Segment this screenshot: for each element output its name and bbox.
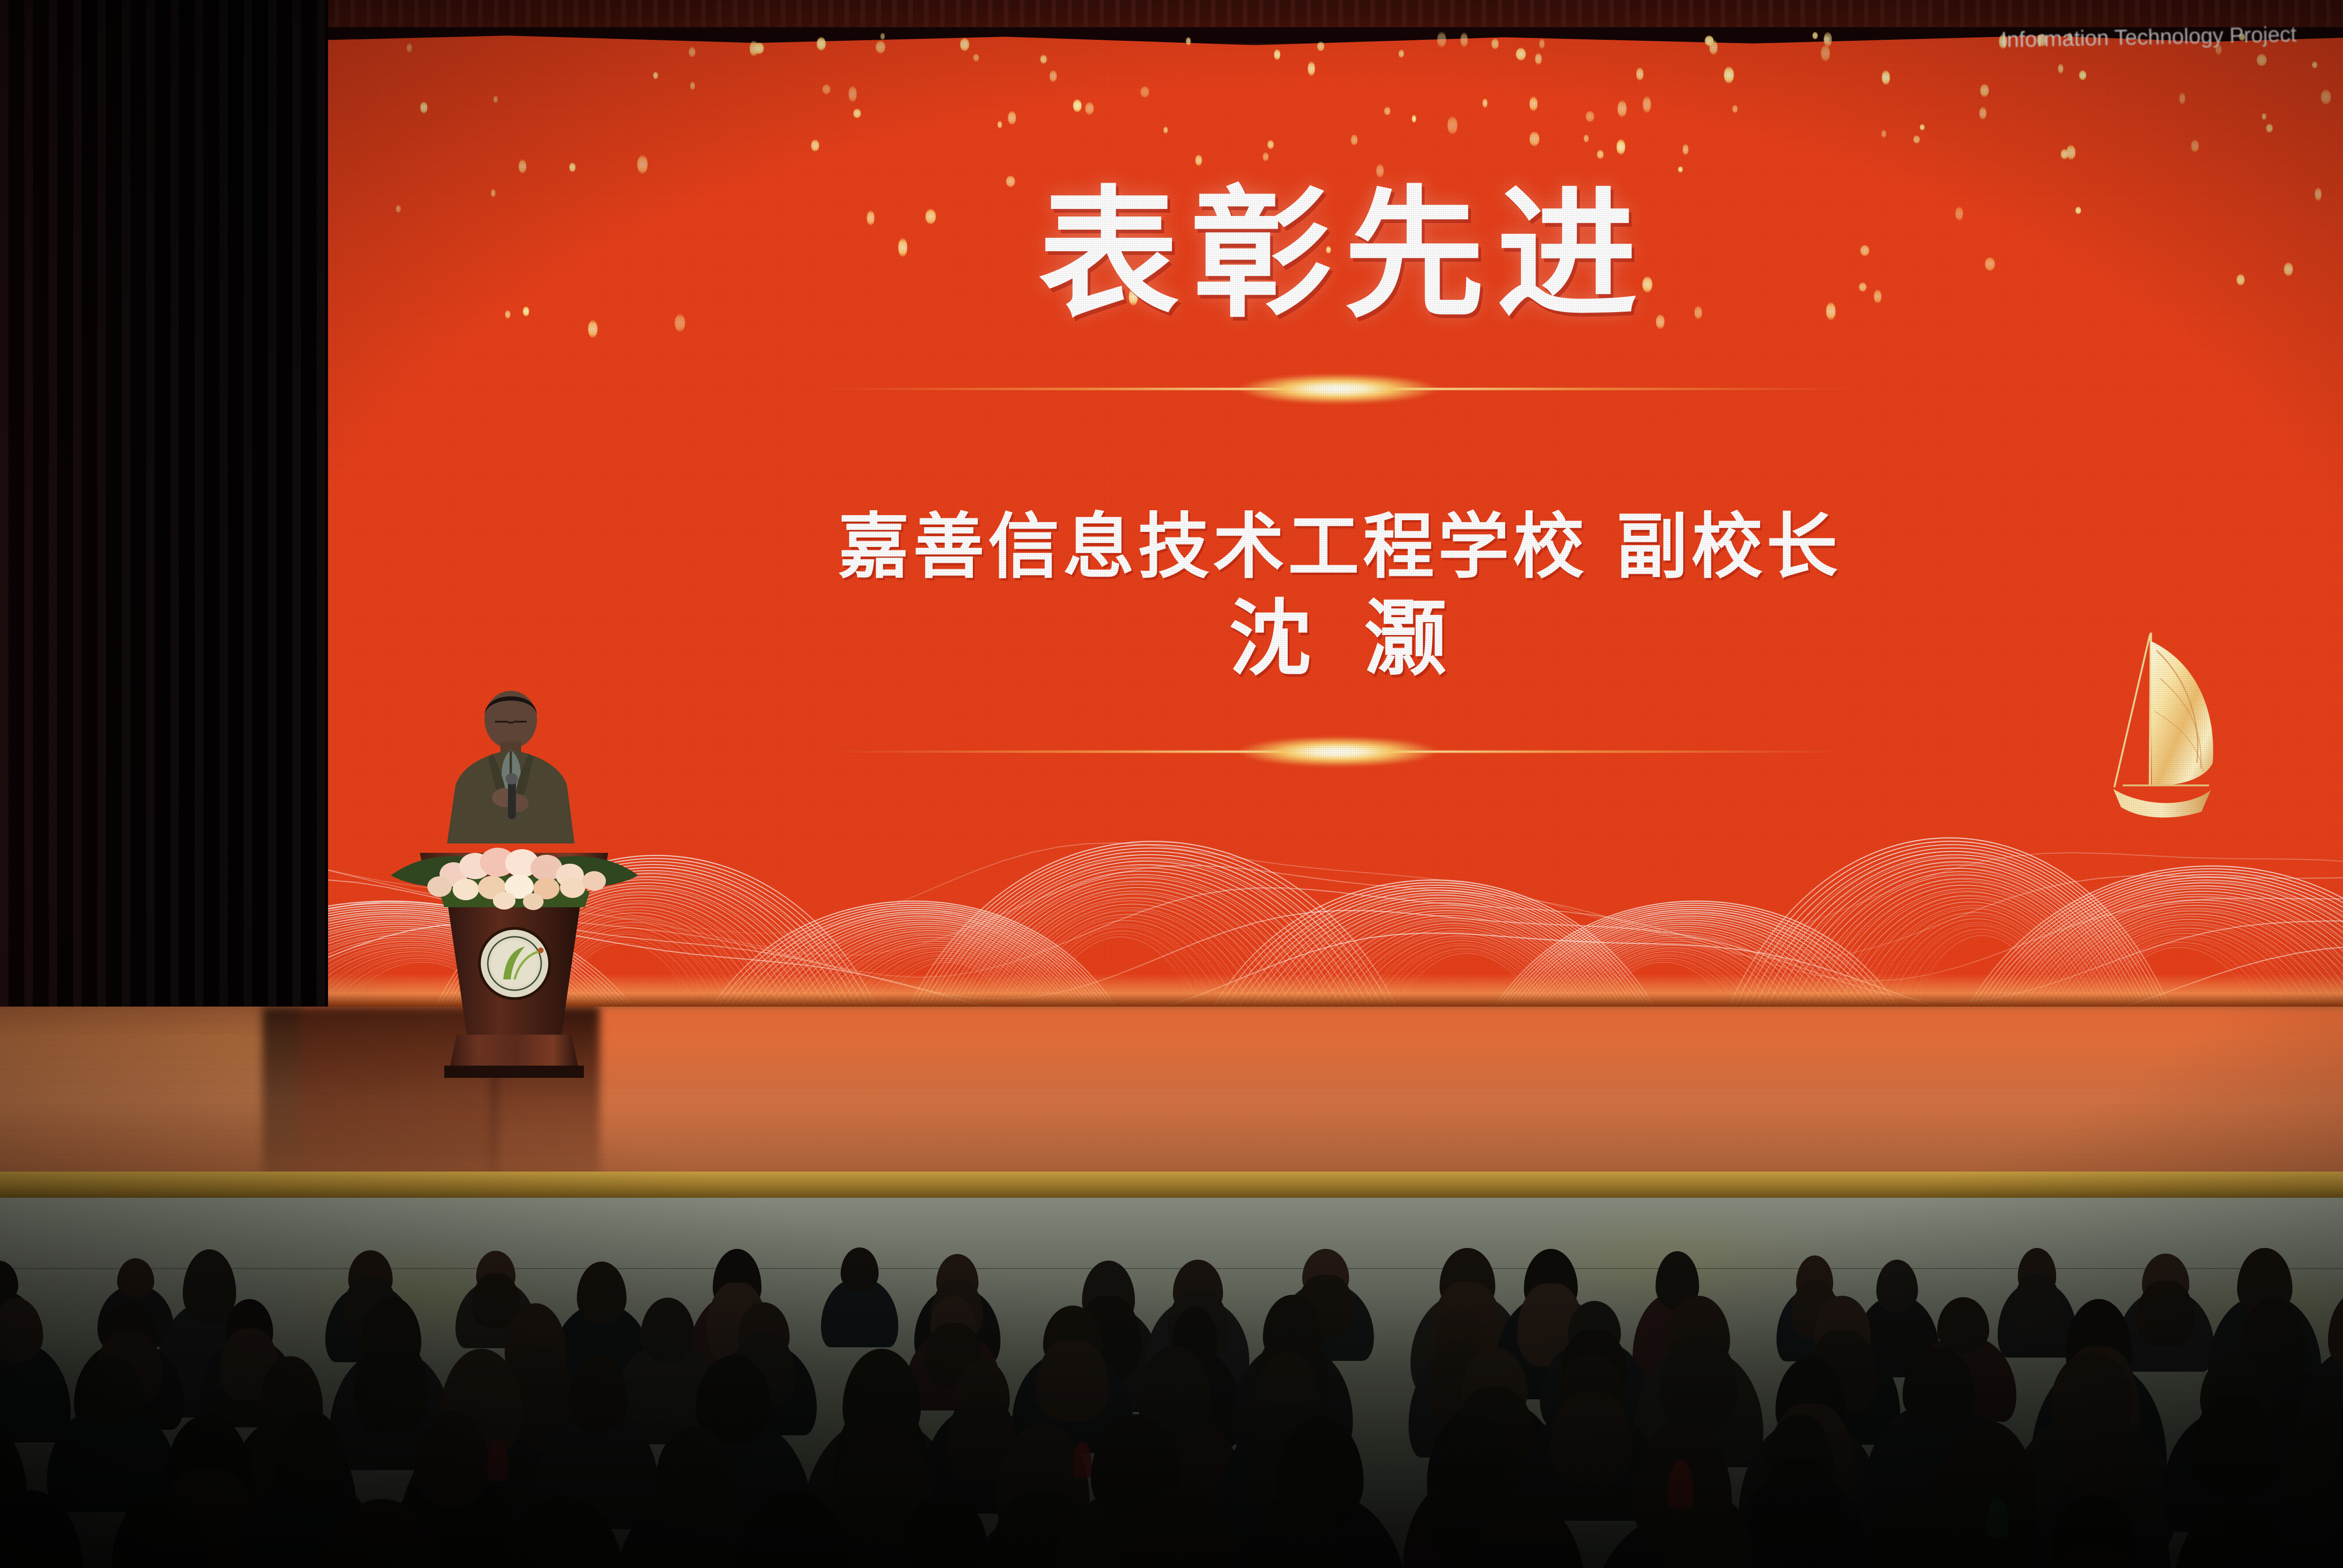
gold-particle [1437, 32, 1446, 47]
gold-particle [1448, 116, 1457, 134]
gold-particle [1643, 96, 1651, 113]
gold-particle [2321, 90, 2331, 105]
gold-particle [1195, 155, 1202, 166]
house-dimming [0, 1198, 2343, 1568]
gold-particle [1683, 144, 1688, 155]
gold-particle [876, 41, 885, 53]
gold-particle [1040, 55, 1047, 64]
wireframe-wave-graphic [300, 650, 2343, 1007]
gold-particle [2079, 70, 2086, 80]
gold-particle [1530, 132, 1539, 146]
gold-particle [1317, 42, 1324, 51]
gold-particle [1724, 67, 1734, 83]
gold-particle [1268, 140, 1274, 149]
gold-particle [2061, 149, 2068, 159]
gold-particle [2312, 61, 2317, 68]
gold-particle [1636, 67, 1643, 81]
gold-particle [493, 96, 498, 103]
gold-particle [1412, 115, 1416, 123]
gold-particle [1186, 37, 1191, 45]
gold-particle [689, 47, 695, 57]
gold-particle [1164, 127, 1168, 134]
gold-particle [1913, 135, 1919, 143]
gold-particle [822, 84, 830, 94]
gold-particle [2266, 124, 2273, 133]
gold-particle [811, 140, 819, 151]
gold-particle [2262, 113, 2266, 120]
gold-particle [2191, 140, 2199, 152]
gold-particle [1141, 86, 1149, 97]
gold-particle [1483, 98, 1487, 108]
gold-particle [1308, 61, 1315, 76]
gold-particle [569, 163, 575, 172]
gold-particle [960, 38, 969, 52]
gold-particle [1732, 105, 1738, 113]
gold-particle [1461, 32, 1468, 47]
gold-particle [2058, 64, 2063, 74]
gold-particle [2179, 92, 2186, 105]
gold-particle [1050, 70, 1057, 82]
divider-bottom-flare [612, 749, 2064, 754]
gold-particle [1516, 48, 1526, 60]
gold-particle [1085, 102, 1094, 115]
gold-particle [420, 102, 427, 114]
gold-particle [1008, 111, 1016, 125]
gold-particle [880, 33, 885, 40]
gold-particle [1813, 32, 1818, 39]
gold-particle [1882, 70, 1890, 85]
gold-particle [1881, 130, 1886, 138]
led-title: 表彰先进 [300, 185, 2343, 325]
gold-particle [1920, 124, 1925, 130]
gold-particle [1492, 38, 1499, 49]
gold-particle [1980, 84, 1989, 97]
gold-particle [519, 159, 526, 173]
gold-particle [1073, 99, 1082, 112]
led-bottom-glow [300, 974, 2343, 1007]
gold-particle [1586, 111, 1594, 122]
gold-particle [1618, 100, 1626, 117]
gold-particle [998, 121, 1002, 128]
gold-particle [853, 109, 861, 118]
gold-particle [849, 86, 857, 102]
gold-particle [1539, 39, 1545, 49]
gold-particle [1263, 152, 1269, 161]
gold-particle [753, 42, 761, 54]
auditorium-scene: 表彰先进 嘉善信息技术工程学校 副校长 沈 灏 Information Tech… [0, 0, 2343, 1568]
gold-particle [690, 82, 695, 90]
gold-particle [1979, 107, 1986, 120]
gold-particle [817, 37, 826, 51]
gold-particle [1351, 134, 1358, 145]
gold-particle [1274, 49, 1280, 60]
gold-particle [1399, 50, 1404, 57]
gold-particle [1597, 150, 1604, 159]
upper-banner-screen: Information Technology Project [2001, 7, 2343, 50]
gold-particle [2257, 54, 2267, 66]
led-screen: 表彰先进 嘉善信息技术工程学校 副校长 沈 灏 [300, 27, 2343, 1007]
gold-particle [1821, 45, 1830, 61]
gold-particle [637, 155, 648, 174]
gold-particle [653, 72, 658, 79]
gold-particle [1584, 134, 1589, 142]
led-speaker-name: 沈 灏 [300, 598, 2343, 680]
gold-particle [1678, 166, 1683, 172]
audience-area [0, 1198, 2343, 1568]
gold-particle [1535, 53, 1542, 65]
gold-particle [1530, 97, 1537, 111]
gold-particle [1824, 32, 1832, 47]
gold-particle [1384, 107, 1390, 115]
upper-banner-text: Information Technology Project [2001, 18, 2343, 50]
stage-curtain-left [0, 0, 328, 1092]
divider-top-flare [612, 386, 2064, 392]
gold-particle [1709, 40, 1717, 55]
gold-particle [973, 54, 979, 61]
gold-particle [1617, 139, 1625, 154]
led-subtitle: 嘉善信息技术工程学校 副校长 [300, 509, 2343, 584]
gold-particle [407, 43, 412, 52]
